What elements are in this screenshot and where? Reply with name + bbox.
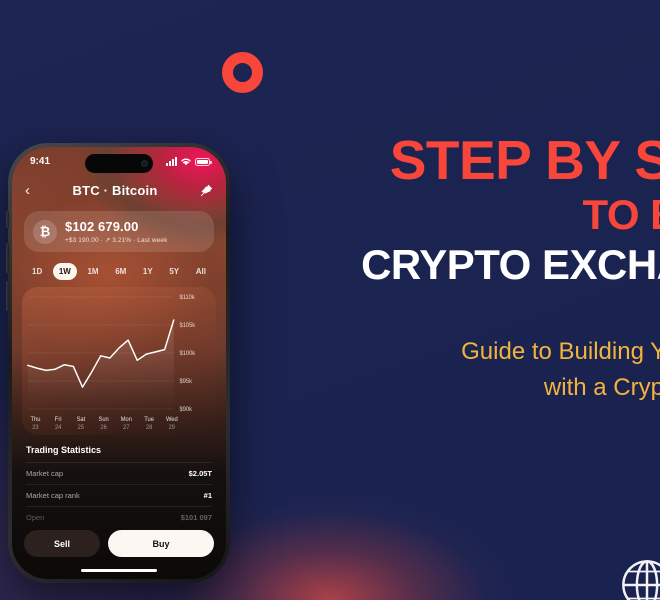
pin-icon[interactable] <box>200 184 213 197</box>
price-change: +$3 190.00 · ↗ 3.21% · Last week <box>65 236 167 244</box>
battery-icon <box>195 158 210 166</box>
range-6m[interactable]: 6M <box>109 263 132 280</box>
phone-screen: 9:41 ‹ BTC · Bitcoin <box>12 147 226 579</box>
home-indicator[interactable] <box>81 569 157 573</box>
stat-row-market-cap: Market cap $2.05T <box>26 462 212 484</box>
chevron-left-icon[interactable]: ‹ <box>25 182 30 199</box>
range-1w[interactable]: 1W <box>53 263 77 280</box>
svg-text:$105k: $105k <box>180 323 196 329</box>
app-nav-bar: ‹ BTC · Bitcoin <box>12 177 226 203</box>
svg-text:27: 27 <box>123 425 129 431</box>
price-text-group: $102 679.00 +$3 190.00 · ↗ 3.21% · Last … <box>65 219 167 244</box>
svg-text:29: 29 <box>169 425 175 431</box>
range-1m[interactable]: 1M <box>81 263 104 280</box>
chart-y-axis-labels: $90k$95k$100k$105k$110k <box>180 295 196 413</box>
status-time: 9:41 <box>30 156 50 167</box>
svg-text:$100k: $100k <box>180 351 196 357</box>
status-indicators <box>166 157 210 166</box>
action-buttons: Sell Buy <box>24 530 214 557</box>
range-all[interactable]: All <box>190 263 212 280</box>
svg-text:26: 26 <box>100 425 107 431</box>
headline-block: STEP BY STEP TO BUILD CRYPTO EXCHANGE <box>256 132 660 287</box>
svg-text:23: 23 <box>32 425 39 431</box>
chart-area-fill <box>28 320 174 409</box>
stat-value: $2.05T <box>189 469 212 478</box>
svg-text:24: 24 <box>55 425 62 431</box>
headline-line-2: TO BUILD <box>256 194 660 237</box>
stat-value: #1 <box>204 491 212 500</box>
volume-down-button[interactable] <box>6 281 9 311</box>
ring-logo-icon <box>222 52 263 93</box>
cellular-signal-icon <box>166 157 177 166</box>
headline-line-3: CRYPTO EXCHANGE <box>256 244 660 287</box>
svg-text:28: 28 <box>146 425 153 431</box>
subtitle-line-2: with a Cryptocurrency <box>256 370 660 406</box>
price-summary-card[interactable]: ₿ $102 679.00 +$3 190.00 · ↗ 3.21% · Las… <box>24 211 214 252</box>
volume-up-button[interactable] <box>6 243 9 273</box>
stats-title: Trading Statistics <box>26 445 212 455</box>
svg-text:Mon: Mon <box>121 417 132 423</box>
status-bar: 9:41 <box>12 147 226 173</box>
bitcoin-icon: ₿ <box>33 220 57 244</box>
svg-text:25: 25 <box>78 425 85 431</box>
price-line-chart: $90k$95k$100k$105k$110k Thu23Fri24Sat25S… <box>22 287 216 435</box>
range-1d[interactable]: 1D <box>26 263 48 280</box>
stat-key: Market cap <box>26 469 63 478</box>
stat-row-market-cap-rank: Market cap rank #1 <box>26 484 212 506</box>
dynamic-island <box>85 154 153 173</box>
phone-mockup: 9:41 ‹ BTC · Bitcoin <box>8 143 230 583</box>
svg-text:Fri: Fri <box>55 417 62 423</box>
svg-text:Thu: Thu <box>30 417 40 423</box>
chart-x-axis-labels: Thu23Fri24Sat25Sun26Mon27Tue28Wed29 <box>30 417 177 431</box>
svg-text:$110k: $110k <box>180 295 195 301</box>
nav-title: BTC · Bitcoin <box>73 183 158 198</box>
stat-key: Open <box>26 513 44 522</box>
mute-switch[interactable] <box>6 211 9 228</box>
stat-row-open: Open $101 097 <box>26 506 212 528</box>
svg-text:Wed: Wed <box>166 417 178 423</box>
svg-text:Sun: Sun <box>99 417 109 423</box>
subtitle-line-1: Guide to Building Your Crypto <box>461 338 660 365</box>
wifi-icon <box>180 157 192 166</box>
front-camera-icon <box>141 160 148 167</box>
subtitle-block: Guide to Building Your Crypto with a Cry… <box>256 334 660 406</box>
range-1y[interactable]: 1Y <box>137 263 159 280</box>
range-5y[interactable]: 5Y <box>163 263 185 280</box>
trading-statistics: Trading Statistics Market cap $2.05T Mar… <box>26 445 212 528</box>
svg-text:$95k: $95k <box>180 379 193 385</box>
time-range-selector[interactable]: 1D 1W 1M 6M 1Y 5Y All <box>22 261 216 281</box>
headline-line-1: STEP BY STEP <box>256 132 660 188</box>
price-chart-card[interactable]: $90k$95k$100k$105k$110k Thu23Fri24Sat25S… <box>22 287 216 435</box>
stat-value: $101 097 <box>181 513 212 522</box>
svg-text:Tue: Tue <box>144 417 154 423</box>
buy-button[interactable]: Buy <box>108 530 214 557</box>
stat-key: Market cap rank <box>26 491 80 500</box>
svg-text:$90k: $90k <box>180 407 193 413</box>
globe-icon <box>620 558 660 600</box>
sell-button[interactable]: Sell <box>24 530 100 557</box>
svg-text:Sat: Sat <box>77 417 86 423</box>
current-price: $102 679.00 <box>65 219 167 234</box>
